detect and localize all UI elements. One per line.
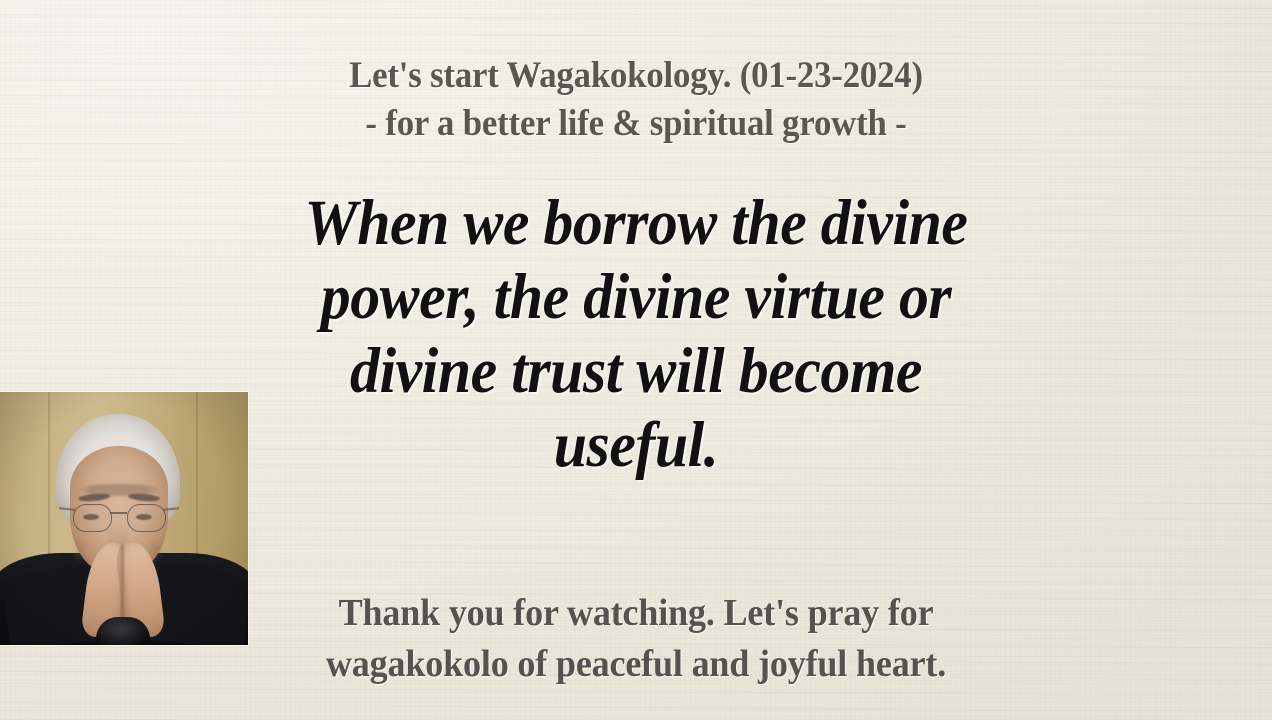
- quote-line-2: power, the divine virtue or: [51, 260, 1221, 334]
- slide-header: Let's start Wagakokology. (01-23-2024) -…: [38, 52, 1234, 148]
- footer-line-2: wagakokolo of peaceful and joyful heart.: [32, 639, 1240, 690]
- header-line-1: Let's start Wagakokology. (01-23-2024): [38, 52, 1234, 100]
- quote-line-1: When we borrow the divine: [51, 186, 1221, 260]
- video-vignette: [0, 392, 248, 645]
- presenter-video-inset[interactable]: [0, 392, 248, 645]
- presentation-slide: Let's start Wagakokology. (01-23-2024) -…: [0, 0, 1272, 720]
- header-line-2: - for a better life & spiritual growth -: [38, 100, 1234, 148]
